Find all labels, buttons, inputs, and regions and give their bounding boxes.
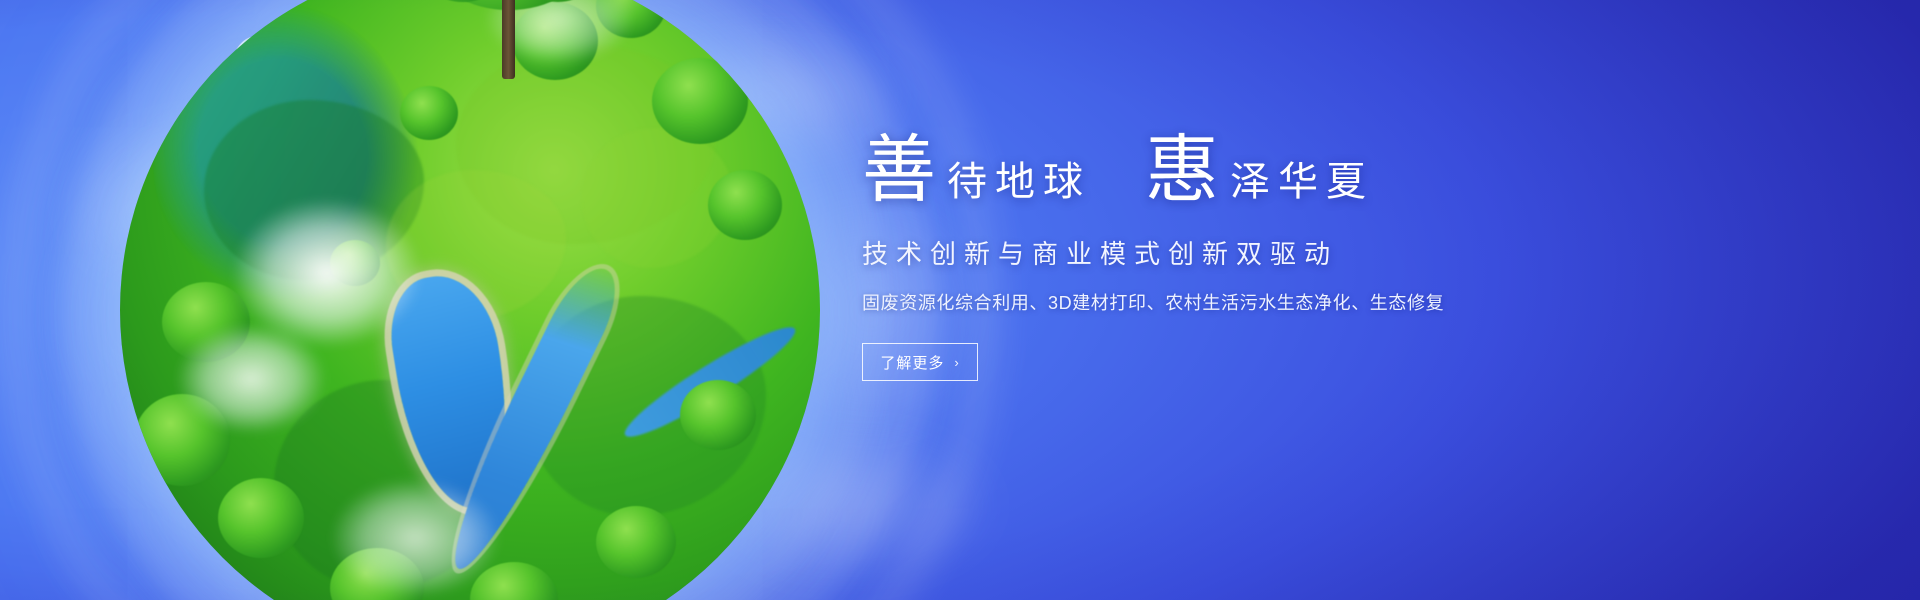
learn-more-button[interactable]: 了解更多 ›: [862, 343, 978, 381]
headline-lead-1: 善: [862, 134, 937, 208]
learn-more-label: 了解更多: [880, 352, 944, 373]
chevron-right-icon: ›: [954, 356, 959, 369]
headline-rest-2: 泽华夏: [1220, 162, 1374, 208]
subtitle-primary: 技术创新与商业模式创新双驱动: [862, 234, 1562, 271]
page-title: 善 待地球 惠 泽华夏: [862, 118, 1562, 208]
hero-banner: 善 待地球 惠 泽华夏 技术创新与商业模式创新双驱动 固废资源化综合利用、3D建…: [0, 0, 1920, 600]
headline-lead-2: 惠: [1145, 134, 1220, 208]
subtitle-secondary: 固废资源化综合利用、3D建材打印、农村生活污水生态净化、生态修复: [862, 289, 1562, 315]
banner-content: 善 待地球 惠 泽华夏 技术创新与商业模式创新双驱动 固废资源化综合利用、3D建…: [862, 118, 1562, 381]
headline-rest-1: 待地球: [937, 162, 1091, 208]
